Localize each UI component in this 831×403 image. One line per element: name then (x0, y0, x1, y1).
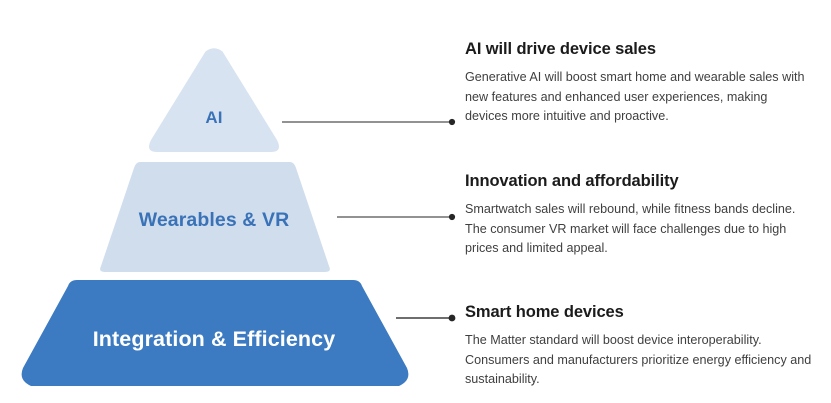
pyramid-tier-top-shape[interactable] (149, 48, 279, 152)
note-block-wearables-vr: Innovation and affordability Smartwatch … (465, 172, 821, 259)
note-body: Generative AI will boost smart home and … (465, 68, 821, 127)
note-body: The Matter standard will boost device in… (465, 331, 821, 390)
pyramid-tier-bottom-label: Integration & Efficiency (0, 327, 428, 352)
note-title: AI will drive device sales (465, 40, 821, 59)
note-title: Smart home devices (465, 303, 821, 322)
note-block-smart-home: Smart home devices The Matter standard w… (465, 303, 821, 390)
pyramid-tier-top-label: AI (0, 108, 428, 128)
note-block-ai: AI will drive device sales Generative AI… (465, 40, 821, 127)
pyramid-tier-middle-label: Wearables & VR (0, 209, 428, 232)
pyramid-infographic: AI Wearables & VR Integration & Efficien… (0, 0, 831, 403)
note-body: Smartwatch sales will rebound, while fit… (465, 200, 821, 259)
note-title: Innovation and affordability (465, 172, 821, 191)
